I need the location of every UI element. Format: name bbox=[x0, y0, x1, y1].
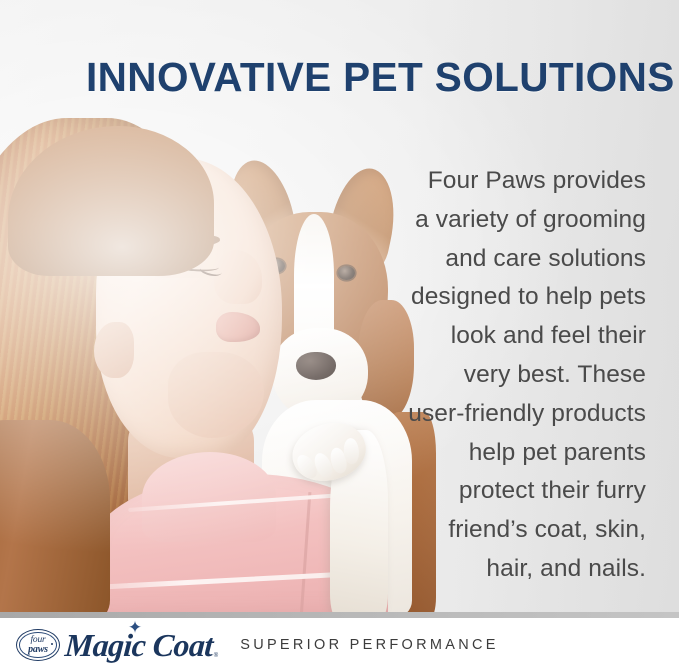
dog-right-eye bbox=[338, 266, 355, 280]
girl-hair-front bbox=[0, 420, 110, 618]
product-banner: INNOVATIVE PET SOLUTIONS Four Paws provi… bbox=[0, 0, 679, 672]
brand-tagline: SUPERIOR PERFORMANCE bbox=[240, 637, 499, 653]
body-copy: Four Paws provides a variety of grooming… bbox=[394, 162, 646, 589]
body-line: and care solutions bbox=[394, 240, 646, 279]
registered-trademark-icon: ® bbox=[214, 653, 218, 659]
dog-nose bbox=[296, 352, 336, 380]
body-line: a variety of grooming bbox=[394, 201, 646, 240]
body-line: designed to help pets bbox=[394, 278, 646, 317]
girl-ear bbox=[94, 322, 134, 378]
body-line: protect their furry bbox=[394, 472, 646, 511]
page-title: INNOVATIVE PET SOLUTIONS bbox=[86, 56, 622, 100]
badge-dot-icon bbox=[51, 643, 53, 645]
body-line: help pet parents bbox=[394, 434, 646, 473]
dog-toe bbox=[343, 438, 360, 465]
brand-footer: four paws ✦ Magic Coat ® SUPERIOR PERFOR… bbox=[0, 618, 679, 672]
brand-name: Magic Coat bbox=[64, 629, 214, 661]
four-paws-badge-icon: four paws bbox=[16, 629, 60, 661]
body-line: Four Paws provides bbox=[394, 162, 646, 201]
badge-line-paws: paws bbox=[28, 645, 48, 655]
hero-photo: INNOVATIVE PET SOLUTIONS Four Paws provi… bbox=[0, 0, 679, 618]
body-line: very best. These bbox=[394, 356, 646, 395]
magic-coat-wordmark: ✦ Magic Coat ® bbox=[65, 629, 218, 661]
body-line: look and feel their bbox=[394, 317, 646, 356]
body-line: user-friendly products bbox=[394, 395, 646, 434]
body-line: hair, and nails. bbox=[394, 550, 646, 589]
brand-lockup: four paws ✦ Magic Coat ® SUPERIOR PERFOR… bbox=[16, 629, 499, 661]
shirt-shoulder bbox=[142, 452, 276, 542]
body-line: friend’s coat, skin, bbox=[394, 511, 646, 550]
